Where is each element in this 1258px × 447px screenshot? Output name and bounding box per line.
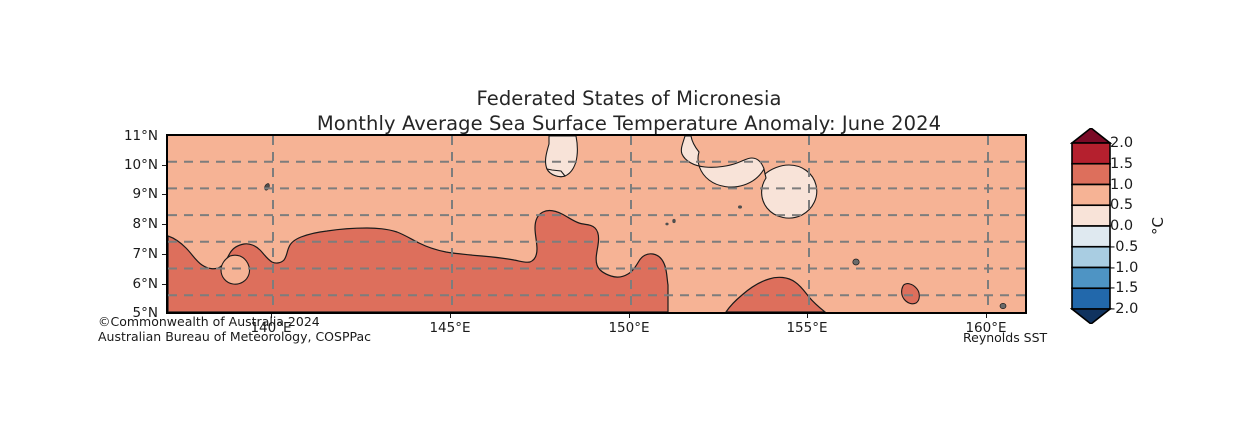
title-line-1: Federated States of Micronesia: [0, 86, 1258, 111]
y-tick-label-8n: 8°N: [102, 216, 158, 232]
map-plot-area: [166, 134, 1027, 314]
colorbar-band-m1p0-m0p5: [1072, 247, 1110, 268]
colorbar-under-arrow: [1072, 309, 1110, 324]
credits: ©Commonwealth of Australia 2024 Australi…: [98, 314, 371, 344]
y-tick-label-7n: 7°N: [102, 246, 158, 262]
sst-anomaly-map: [168, 136, 1025, 312]
colorbar-band-1p5-2p0: [1072, 143, 1110, 164]
colorbar-label-0p0: 0.0: [1110, 218, 1133, 234]
colorbar-label-1p0: 1.0: [1110, 177, 1133, 193]
sst-anomaly-figure: Federated States of Micronesia Monthly A…: [0, 0, 1258, 447]
island-speck-pohnpei: [738, 205, 742, 208]
region-warm-pool-enclave: [221, 255, 250, 284]
x-tick-label-145e: 145°E: [429, 320, 470, 336]
y-tick-label-10n: 10°N: [102, 157, 158, 173]
island-speck-kapingamarangi: [1000, 303, 1006, 308]
y-tick-label-6n: 6°N: [102, 276, 158, 292]
data-source-label: Reynolds SST: [963, 330, 1047, 345]
x-tick-mark-150e: [629, 314, 630, 318]
colorbar-label-m1p5: -1.5: [1110, 280, 1138, 296]
colorbar-band-0p0-0p5: [1072, 205, 1110, 226]
y-tick-label-9n: 9°N: [102, 186, 158, 202]
island-speck-kosrae: [853, 259, 859, 265]
island-speck-chuuk-a: [665, 223, 668, 226]
colorbar-label-2p0: 2.0: [1110, 135, 1133, 151]
colorbar-label-m0p5: -0.5: [1110, 239, 1138, 255]
colorbar-swatches: [1070, 128, 1114, 324]
colorbar-label-0p5: 0.5: [1110, 197, 1133, 213]
colorbar-band-1p0-1p5: [1072, 164, 1110, 185]
colorbar-band-0p5-1p0: [1072, 185, 1110, 206]
island-speck-chuuk-b: [672, 219, 675, 223]
colorbar-band-m2p0-m1p5: [1072, 288, 1110, 309]
colorbar-band-m1p5-m1p0: [1072, 268, 1110, 289]
colorbar-label-m1p0: -1.0: [1110, 260, 1138, 276]
colorbar-label-1p5: 1.5: [1110, 156, 1133, 172]
x-tick-label-155e: 155°E: [786, 320, 827, 336]
colorbar-band-m0p5-0p0: [1072, 226, 1110, 247]
x-tick-mark-160e: [986, 314, 987, 318]
colorbar-label-m2p0: -2.0: [1110, 301, 1138, 317]
colorbar: 2.0 1.5 1.0 0.5 0.0 -0.5 -1.0 -1.5 -2.0 …: [1070, 128, 1220, 324]
x-tick-label-150e: 150°E: [608, 320, 649, 336]
x-tick-mark-145e: [450, 314, 451, 318]
colorbar-unit-label: °C: [1149, 217, 1167, 235]
credits-line-1: ©Commonwealth of Australia 2024: [98, 314, 371, 329]
credits-line-2: Australian Bureau of Meteorology, COSPPa…: [98, 329, 371, 344]
x-tick-mark-155e: [807, 314, 808, 318]
colorbar-over-arrow: [1072, 128, 1110, 143]
